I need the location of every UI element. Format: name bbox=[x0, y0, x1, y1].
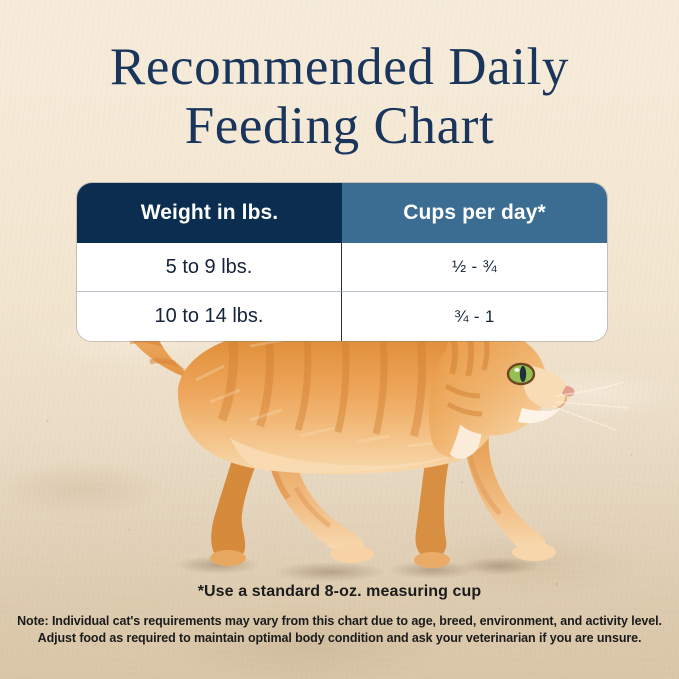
cell-weight-range-1: 5 to 9 lbs. bbox=[77, 243, 342, 292]
page-title-line-1: Recommended Daily bbox=[0, 38, 679, 97]
footnotes: *Use a standard 8-oz. measuring cup Note… bbox=[0, 583, 679, 647]
table-header-row: Weight in lbs. Cups per day* bbox=[77, 183, 607, 243]
cat-paw-rear bbox=[330, 545, 374, 563]
cat-paw-front bbox=[512, 543, 556, 561]
page-title: Recommended Daily Feeding Chart bbox=[0, 38, 679, 156]
cat-shadow-mid bbox=[274, 562, 386, 582]
cell-cups-per-day-1: ½ - ¾ bbox=[342, 243, 607, 292]
feeding-chart-poster: Recommended Daily Feeding Chart bbox=[0, 0, 679, 679]
table-header-cups: Cups per day* bbox=[342, 183, 607, 243]
feeding-table: Weight in lbs. Cups per day* 5 to 9 lbs.… bbox=[77, 183, 607, 341]
disclaimer-line-2: Adjust food as required to maintain opti… bbox=[0, 630, 679, 647]
page-title-line-2: Feeding Chart bbox=[0, 97, 679, 156]
cell-weight-range-2: 10 to 14 lbs. bbox=[77, 292, 342, 341]
cell-cups-per-day-2: ¾ - 1 bbox=[342, 292, 607, 341]
cat-eye bbox=[508, 364, 534, 384]
table-header-weight: Weight in lbs. bbox=[77, 183, 342, 243]
measuring-cup-note: *Use a standard 8-oz. measuring cup bbox=[0, 583, 679, 601]
disclaimer-line-1: Note: Individual cat's requirements may … bbox=[0, 613, 679, 630]
table-row: 10 to 14 lbs. ¾ - 1 bbox=[77, 292, 607, 341]
table-row: 5 to 9 lbs. ½ - ¾ bbox=[77, 243, 607, 292]
